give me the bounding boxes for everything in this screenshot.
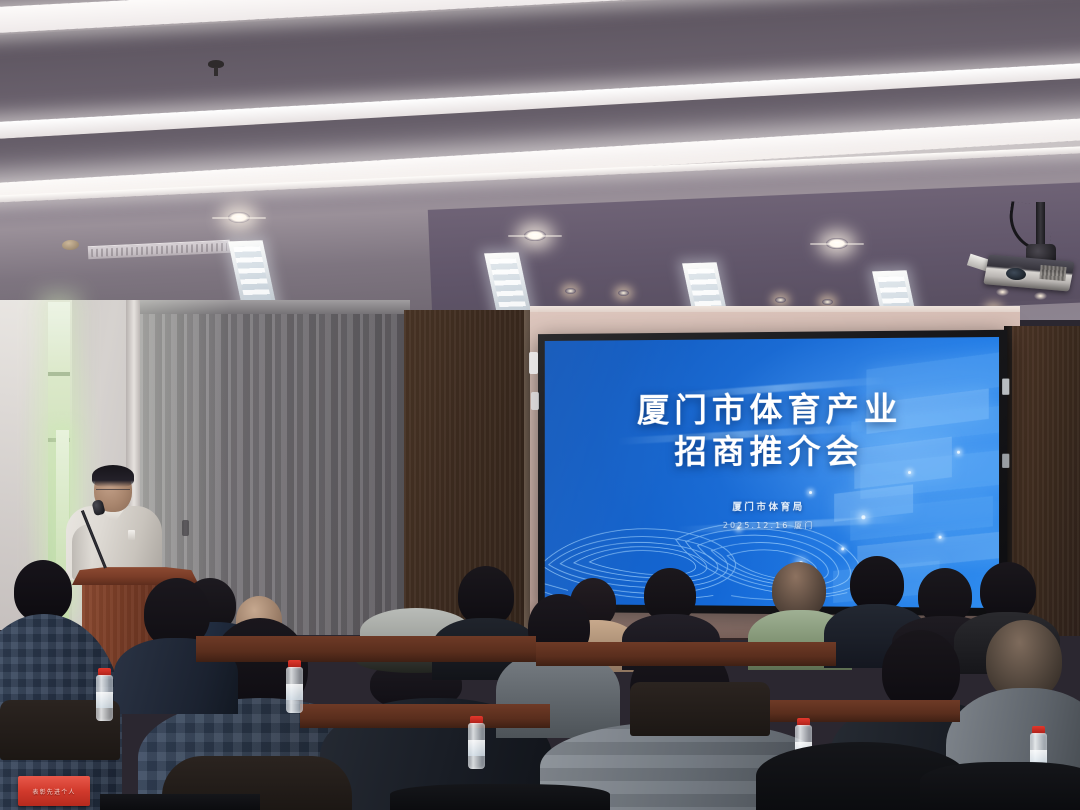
screen-title-line-2: 招商推介会 [545,431,999,474]
screen-organizer: 厦门市体育局 [545,499,999,514]
screen-title: 厦门市体育产业 招商推介会 [545,388,999,474]
bezel-reflection-1 [1002,379,1009,395]
chair-back-3 [630,682,770,736]
projector-light-1 [996,288,1009,296]
foreground-silhouette-2 [920,762,1080,810]
speaker-hair [92,465,134,487]
foreground-silhouette-3 [390,784,610,810]
screen-sparkle-6 [939,536,942,539]
projector-mount-arm [1036,202,1045,248]
table-placard: 表彰先进个人 [18,776,90,806]
screen-edge-highlight-1 [529,352,538,374]
head [14,560,72,622]
foreground-silhouette-4 [100,794,260,810]
ceiling-projector [980,202,1080,307]
bezel-reflection-2 [1002,454,1009,468]
downlight-7 [822,299,833,305]
projector-vent [1039,265,1066,281]
screen-date-location: 2025.12.16 厦门 [545,519,999,532]
screen-title-line-1: 厦门市体育产业 [545,388,999,432]
table-near-right [760,700,960,722]
downlight-flare-1 [212,217,266,219]
bottle-label [286,684,303,700]
downlight-flare-2 [508,235,562,237]
bottle-label [468,740,485,756]
screen-subtitle: 厦门市体育局 2025.12.16 厦门 [545,499,999,532]
table-far-left [196,636,536,662]
speaker-badge [128,530,135,540]
screen-sparkle-1 [809,491,812,494]
ceiling [0,0,1080,320]
downlight-4 [565,288,576,294]
projector-light-2 [1034,292,1047,300]
downlight-6 [775,297,786,303]
screen-edge-highlight-2 [531,392,539,410]
conference-hall-photo: 厦门市体育产业 招商推介会 厦门市体育局 2025.12.16 厦门 [0,0,1080,810]
downlight-5 [618,290,629,296]
bottle-label [96,692,113,708]
table-far-right [536,642,836,666]
placard-text: 表彰先进个人 [32,787,75,796]
eyeglasses-icon [96,489,130,496]
downlight-flare-3 [810,243,864,245]
window-mullion-1 [48,372,70,376]
sprinkler-icon [208,60,224,68]
table-near [300,704,550,728]
curtain-hook [182,520,189,536]
